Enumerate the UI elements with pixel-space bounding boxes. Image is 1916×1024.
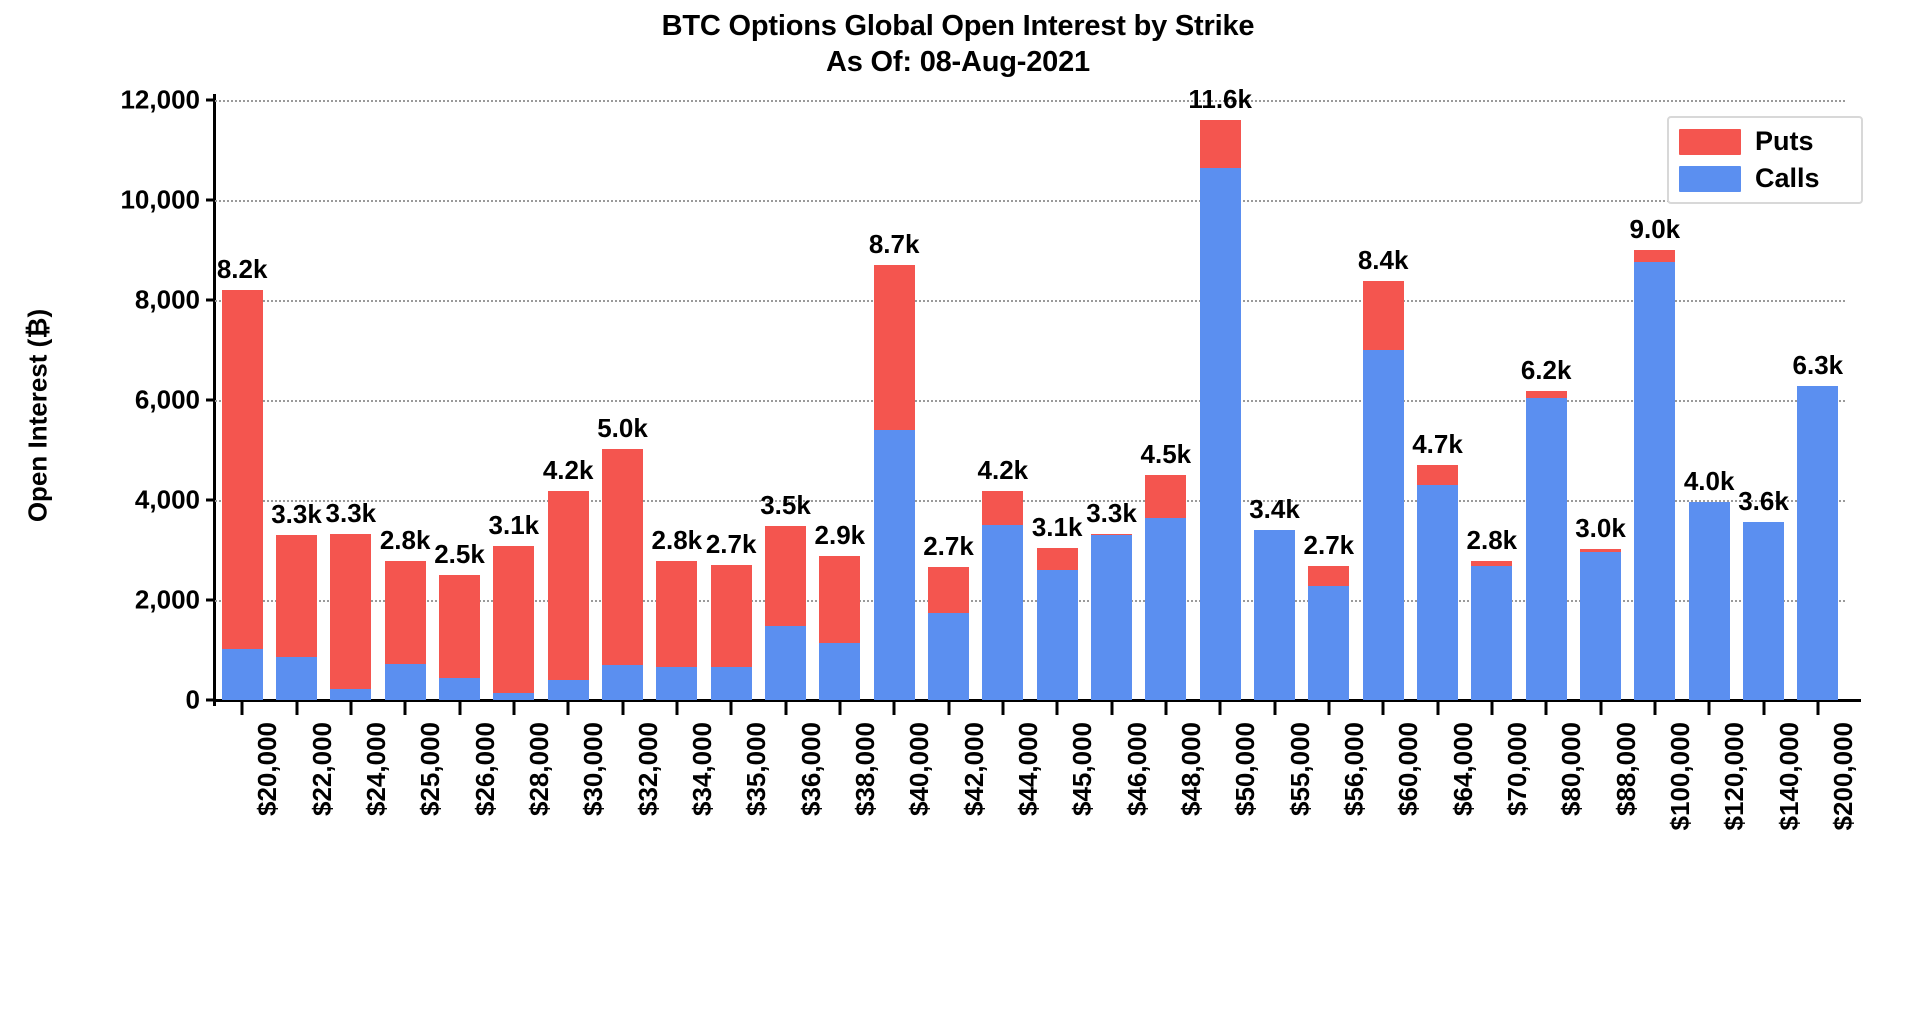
bar-segment-puts[interactable] [602, 449, 643, 665]
bar-segment-calls[interactable] [1200, 168, 1241, 701]
x-axis-tick-mark [1436, 701, 1439, 715]
plot-area [215, 100, 1845, 700]
x-axis-tick-label: $30,000 [578, 722, 609, 816]
bar-segment-calls[interactable] [276, 657, 317, 700]
y-axis-tick-label: 0 [15, 685, 200, 716]
x-axis-tick-mark [1327, 701, 1330, 715]
bar-segment-calls[interactable] [1417, 485, 1458, 700]
bar-segment-puts[interactable] [874, 265, 915, 430]
x-axis-tick-label: $50,000 [1230, 722, 1261, 816]
bar-segment-puts[interactable] [819, 556, 860, 644]
x-axis-tick-label: $80,000 [1556, 722, 1587, 816]
x-axis-tick-mark [1762, 701, 1765, 715]
x-axis-tick-mark [784, 701, 787, 715]
legend-item-puts[interactable]: Puts [1679, 126, 1851, 157]
x-axis-tick-label: $55,000 [1285, 722, 1316, 816]
bar-segment-calls[interactable] [656, 667, 697, 701]
bar-segment-puts[interactable] [1363, 281, 1404, 351]
gridline [215, 100, 1845, 102]
bar-segment-puts[interactable] [1308, 566, 1349, 586]
bar-stack[interactable] [330, 534, 371, 700]
legend-swatch-calls [1679, 166, 1741, 192]
x-axis-tick-mark [1708, 701, 1711, 715]
bar-stack[interactable] [1417, 465, 1458, 700]
bar-segment-calls[interactable] [1254, 530, 1295, 700]
bar-stack[interactable] [928, 567, 969, 700]
x-axis-tick-label: $45,000 [1067, 722, 1098, 816]
bar-segment-puts[interactable] [1145, 475, 1186, 518]
legend-label-calls: Calls [1755, 163, 1820, 194]
bar-stack[interactable] [548, 491, 589, 701]
gridline [215, 400, 1845, 402]
bar-stack[interactable] [1743, 522, 1784, 700]
x-axis-tick-label: $35,000 [741, 722, 772, 816]
bar-stack[interactable] [765, 526, 806, 700]
x-axis-tick-label: $88,000 [1611, 722, 1642, 816]
bar-segment-puts[interactable] [222, 290, 263, 649]
x-axis-tick-mark [1056, 701, 1059, 715]
chart-subtitle: As Of: 08-Aug-2021 [0, 44, 1916, 80]
bar-stack[interactable] [1254, 530, 1295, 700]
x-axis-tick-mark [730, 701, 733, 715]
bar-stack[interactable] [1580, 549, 1621, 700]
x-axis-tick-label: $24,000 [361, 722, 392, 816]
bar-segment-calls[interactable] [1689, 502, 1730, 701]
bar-segment-puts[interactable] [385, 561, 426, 664]
x-axis-tick-mark [1219, 701, 1222, 715]
x-axis-tick-mark [1110, 701, 1113, 715]
bar-stack[interactable] [1363, 281, 1404, 701]
bar-segment-puts[interactable] [656, 561, 697, 667]
bar-segment-puts[interactable] [1037, 548, 1078, 570]
bar-stack[interactable] [222, 290, 263, 700]
x-axis-tick-mark [1001, 701, 1004, 715]
bar-segment-puts[interactable] [765, 526, 806, 626]
bar-stack[interactable] [1145, 475, 1186, 701]
y-axis-tick-label: 12,000 [15, 85, 200, 116]
bar-stack[interactable] [385, 561, 426, 701]
bar-segment-calls[interactable] [711, 667, 752, 700]
bar-stack[interactable] [602, 449, 643, 700]
gridline [215, 300, 1845, 302]
x-axis-tick-mark [947, 701, 950, 715]
bar-segment-calls[interactable] [1526, 398, 1567, 701]
x-axis-tick-mark [458, 701, 461, 715]
bar-segment-calls[interactable] [874, 430, 915, 700]
bar-segment-puts[interactable] [1417, 465, 1458, 485]
x-axis-tick-label: $22,000 [307, 722, 338, 816]
bar-stack[interactable] [1526, 391, 1567, 700]
bar-stack[interactable] [656, 561, 697, 700]
x-axis-tick-mark [349, 701, 352, 715]
x-axis-tick-label: $60,000 [1393, 722, 1424, 816]
gridline [215, 200, 1845, 202]
x-axis-tick-label: $26,000 [470, 722, 501, 816]
bar-segment-puts[interactable] [1200, 120, 1241, 168]
x-axis-tick-mark [512, 701, 515, 715]
bar-stack[interactable] [1200, 120, 1241, 701]
bar-stack[interactable] [1797, 386, 1838, 700]
x-axis-tick-label: $34,000 [687, 722, 718, 816]
legend-item-calls[interactable]: Calls [1679, 163, 1851, 194]
bar-stack[interactable] [819, 556, 860, 701]
legend-swatch-puts [1679, 129, 1741, 155]
bar-stack[interactable] [1091, 534, 1132, 700]
x-axis-tick-mark [1653, 701, 1656, 715]
x-axis-tick-label: $46,000 [1122, 722, 1153, 816]
chart-figure: BTC Options Global Open Interest by Stri… [0, 0, 1916, 1024]
bar-segment-calls[interactable] [765, 626, 806, 700]
x-axis-tick-mark [675, 701, 678, 715]
bar-segment-puts[interactable] [711, 565, 752, 668]
bar-stack[interactable] [439, 575, 480, 701]
bar-segment-calls[interactable] [385, 664, 426, 701]
x-axis-tick-mark [1382, 701, 1385, 715]
bar-segment-calls[interactable] [493, 693, 534, 700]
bar-segment-calls[interactable] [1037, 570, 1078, 700]
bar-segment-calls[interactable] [548, 680, 589, 701]
chart-title-block: BTC Options Global Open Interest by Stri… [0, 8, 1916, 81]
x-axis-tick-label: $25,000 [415, 722, 446, 816]
x-axis-tick-mark [295, 701, 298, 715]
bar-stack[interactable] [493, 546, 534, 700]
x-axis-tick-label: $56,000 [1339, 722, 1370, 816]
bar-segment-calls[interactable] [1091, 535, 1132, 700]
x-axis-tick-mark [1545, 701, 1548, 715]
x-axis-tick-label: $140,000 [1774, 722, 1805, 830]
bar-segment-puts[interactable] [276, 535, 317, 658]
x-axis-tick-label: $20,000 [252, 722, 283, 816]
bar-stack[interactable] [1471, 561, 1512, 701]
x-axis-tick-mark [893, 701, 896, 715]
x-axis-tick-label: $40,000 [904, 722, 935, 816]
bar-segment-calls[interactable] [439, 678, 480, 700]
bar-segment-calls[interactable] [1145, 518, 1186, 701]
x-axis-tick-mark [621, 701, 624, 715]
page-title: BTC Options Global Open Interest by Stri… [0, 8, 1916, 44]
bar-segment-calls[interactable] [819, 643, 860, 700]
bar-segment-calls[interactable] [1308, 586, 1349, 701]
bar-segment-calls[interactable] [1580, 552, 1621, 700]
bar-segment-calls[interactable] [1797, 386, 1838, 700]
x-axis-tick-mark [1816, 701, 1819, 715]
x-axis-tick-label: $200,000 [1828, 722, 1859, 830]
x-axis-tick-mark [1164, 701, 1167, 715]
x-axis-tick-mark [1599, 701, 1602, 715]
bar-segment-calls[interactable] [1471, 566, 1512, 700]
x-axis-tick-mark [1490, 701, 1493, 715]
bar-segment-calls[interactable] [602, 665, 643, 700]
x-axis-tick-mark [1273, 701, 1276, 715]
bar-segment-puts[interactable] [493, 546, 534, 693]
chart-legend[interactable]: Puts Calls [1667, 116, 1863, 204]
x-axis-tick-label: $64,000 [1448, 722, 1479, 816]
bar-segment-calls[interactable] [330, 689, 371, 700]
x-axis-tick-label: $48,000 [1176, 722, 1207, 816]
bar-segment-calls[interactable] [982, 525, 1023, 700]
bar-stack[interactable] [1634, 250, 1675, 701]
bar-segment-puts[interactable] [330, 534, 371, 689]
bar-segment-calls[interactable] [1634, 262, 1675, 701]
x-axis-tick-mark [838, 701, 841, 715]
bar-segment-puts[interactable] [439, 575, 480, 679]
legend-label-puts: Puts [1755, 126, 1814, 157]
x-axis-tick-label: $38,000 [850, 722, 881, 816]
bar-segment-puts[interactable] [928, 567, 969, 613]
bar-segment-puts[interactable] [548, 491, 589, 680]
bar-stack[interactable] [1308, 566, 1349, 700]
y-axis-title: Open Interest (₿) [23, 206, 54, 626]
bar-stack[interactable] [1037, 548, 1078, 700]
bar-stack[interactable] [874, 265, 915, 700]
x-axis-tick-label: $36,000 [796, 722, 827, 816]
x-axis-tick-mark [404, 701, 407, 715]
x-axis-tick-label: $120,000 [1719, 722, 1750, 830]
x-axis-tick-mark [567, 701, 570, 715]
x-axis-tick-label: $70,000 [1502, 722, 1533, 816]
x-axis-tick-label: $28,000 [524, 722, 555, 816]
bar-segment-puts[interactable] [982, 491, 1023, 525]
bar-segment-calls[interactable] [928, 613, 969, 701]
gridline [215, 500, 1845, 502]
x-axis-tick-label: $100,000 [1665, 722, 1696, 830]
x-axis-tick-label: $42,000 [959, 722, 990, 816]
bar-segment-calls[interactable] [222, 649, 263, 700]
bar-stack[interactable] [982, 491, 1023, 700]
bar-stack[interactable] [711, 565, 752, 701]
x-axis-tick-mark [241, 701, 244, 715]
bar-segment-calls[interactable] [1743, 522, 1784, 700]
bar-segment-calls[interactable] [1363, 350, 1404, 700]
x-axis-tick-label: $44,000 [1013, 722, 1044, 816]
x-axis-tick-label: $32,000 [633, 722, 664, 816]
bar-stack[interactable] [1689, 502, 1730, 701]
bar-segment-puts[interactable] [1634, 250, 1675, 262]
bar-stack[interactable] [276, 535, 317, 701]
